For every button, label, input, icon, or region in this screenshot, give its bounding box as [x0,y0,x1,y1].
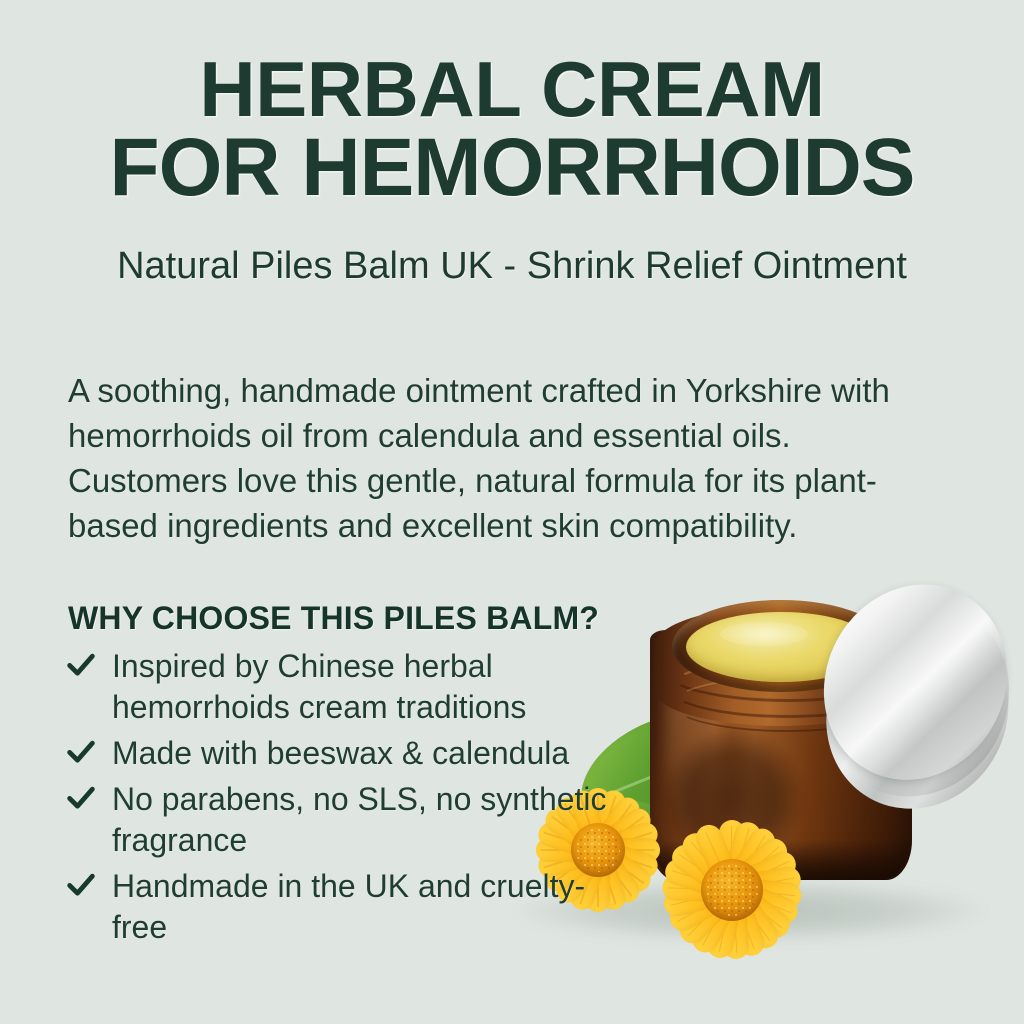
check-icon [64,734,98,768]
title-line-1: HERBAL CREAM [0,52,1024,128]
title-line-2: FOR HEMORRHOIDS [0,128,1024,208]
product-poster: HERBAL CREAM FOR HEMORRHOIDS Natural Pil… [0,0,1024,1024]
benefits-heading: WHY CHOOSE THIS PILES BALM? [68,600,599,637]
text-content: HERBAL CREAM FOR HEMORRHOIDS Natural Pil… [0,0,1024,1024]
list-item-label: No parabens, no SLS, no synthetic fragra… [112,781,607,858]
description-paragraph: A soothing, handmade ointment crafted in… [68,369,948,549]
list-item: No parabens, no SLS, no synthetic fragra… [62,779,622,861]
benefits-list: Inspired by Chinese herbal hemorrhoids c… [62,646,622,953]
check-icon [64,647,98,681]
page-title: HERBAL CREAM FOR HEMORRHOIDS [0,52,1024,207]
list-item: Made with beeswax & calendula [62,733,622,774]
list-item-label: Handmade in the UK and cruelty-free [112,868,585,945]
page-subtitle: Natural Piles Balm UK - Shrink Relief Oi… [0,246,1024,288]
list-item: Handmade in the UK and cruelty-free [62,866,622,948]
list-item-label: Made with beeswax & calendula [112,735,569,771]
check-icon [64,780,98,814]
list-item-label: Inspired by Chinese herbal hemorrhoids c… [112,648,526,725]
check-icon [64,867,98,901]
list-item: Inspired by Chinese herbal hemorrhoids c… [62,646,622,728]
